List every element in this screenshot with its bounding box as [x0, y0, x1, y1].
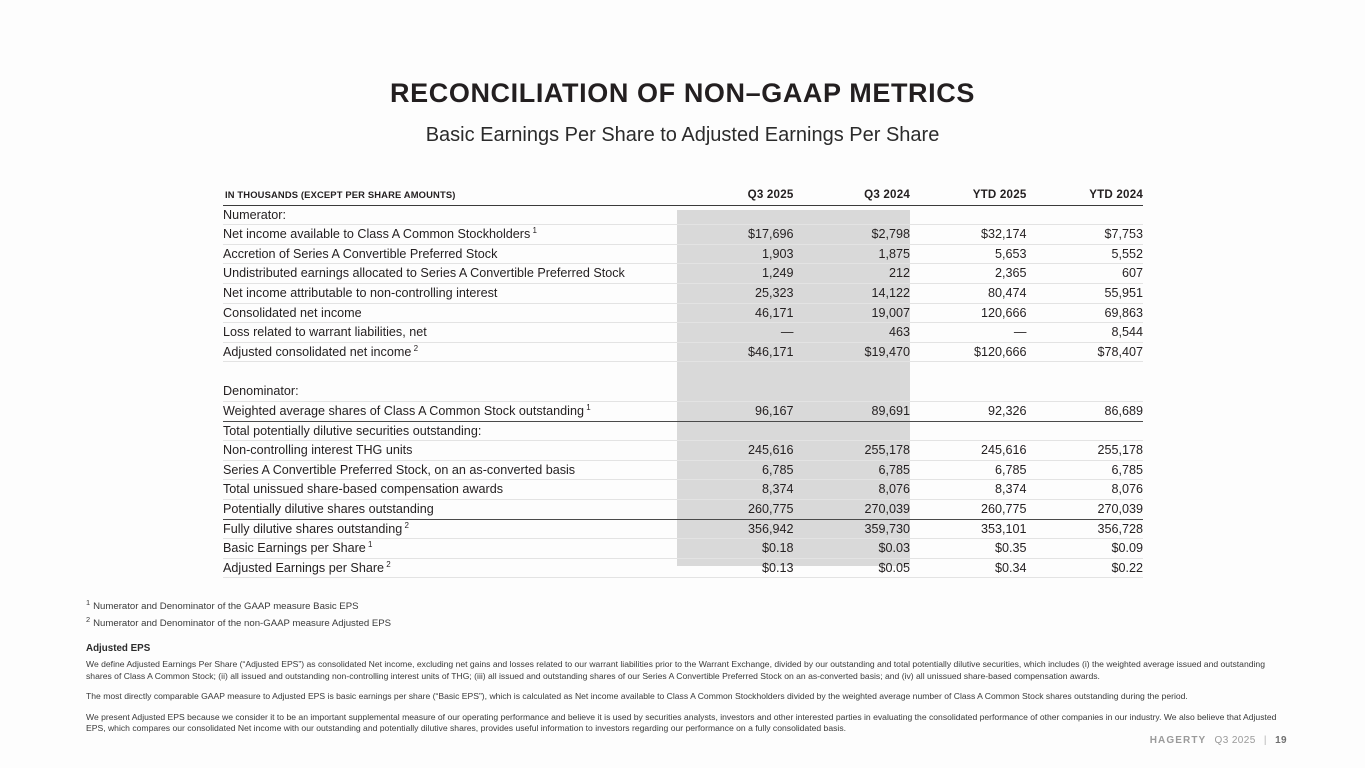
row-value-col2: 19,007: [794, 303, 911, 323]
row-label: Adjusted Earnings per Share 2: [223, 558, 677, 578]
row-label: Loss related to warrant liabilities, net: [223, 323, 677, 343]
row-value-col2: $0.03: [794, 539, 911, 559]
definition-paragraph: We define Adjusted Earnings Per Share (“…: [86, 659, 1278, 682]
footnote-marker: 1: [86, 598, 90, 607]
row-value-col4: 6,785: [1027, 460, 1144, 480]
row-value-col4: 270,039: [1027, 499, 1144, 519]
table-header-row: IN THOUSANDS (EXCEPT PER SHARE AMOUNTS) …: [223, 186, 1143, 205]
row-label: Accretion of Series A Convertible Prefer…: [223, 244, 677, 264]
row-label: Denominator:: [223, 382, 677, 401]
table-row: Basic Earnings per Share 1$0.18$0.03$0.3…: [223, 539, 1143, 559]
header-col-q3-2025: Q3 2025: [677, 186, 794, 205]
row-value-col1: 1,903: [677, 244, 794, 264]
footnote-marker: 1: [584, 403, 591, 412]
page-title: RECONCILIATION OF NON–GAAP METRICS: [0, 78, 1365, 109]
row-value-col1: $0.13: [677, 558, 794, 578]
row-value-col3: 353,101: [910, 519, 1027, 539]
footnote-marker: 2: [86, 615, 90, 624]
row-value-col1: $17,696: [677, 225, 794, 245]
row-value-col3: $120,666: [910, 342, 1027, 362]
row-value-col1: 8,374: [677, 480, 794, 500]
row-value-col2: 14,122: [794, 283, 911, 303]
table-row: Consolidated net income46,17119,007120,6…: [223, 303, 1143, 323]
row-value-col4: 607: [1027, 264, 1144, 284]
row-value-col4: 69,863: [1027, 303, 1144, 323]
row-value-col2: 359,730: [794, 519, 911, 539]
row-value-col3: [910, 421, 1027, 441]
row-value-col1: $0.18: [677, 539, 794, 559]
row-value-col2: 463: [794, 323, 911, 343]
row-label: Basic Earnings per Share 1: [223, 539, 677, 559]
brand-wordmark: HAGERTY: [1150, 735, 1207, 746]
row-value-col4: 356,728: [1027, 519, 1144, 539]
row-value-col2: [794, 205, 911, 225]
row-value-col3: $0.34: [910, 558, 1027, 578]
row-value-col3: 120,666: [910, 303, 1027, 323]
table-row: Adjusted consolidated net income 2$46,17…: [223, 342, 1143, 362]
footnotes: 1Numerator and Denominator of the GAAP m…: [86, 598, 1286, 632]
row-label: Weighted average shares of Class A Commo…: [223, 401, 677, 421]
row-value-col1: 1,249: [677, 264, 794, 284]
row-value-col3: [910, 382, 1027, 401]
row-value-col4: 255,178: [1027, 441, 1144, 461]
footnote-marker: 1: [530, 226, 537, 235]
table-row: Total unissued share-based compensation …: [223, 480, 1143, 500]
table-row: Net income attributable to non-controlli…: [223, 283, 1143, 303]
row-value-col4: [1027, 421, 1144, 441]
table-row: Non-controlling interest THG units245,61…: [223, 441, 1143, 461]
row-value-col4: $0.22: [1027, 558, 1144, 578]
footnote-marker: 2: [402, 520, 409, 529]
row-label: Undistributed earnings allocated to Seri…: [223, 264, 677, 284]
row-label: [223, 362, 677, 383]
row-value-col2: 255,178: [794, 441, 911, 461]
row-value-col3: 6,785: [910, 460, 1027, 480]
row-value-col1: [677, 421, 794, 441]
row-value-col3: [910, 205, 1027, 225]
row-value-col3: 5,653: [910, 244, 1027, 264]
slide-canvas: RECONCILIATION OF NON–GAAP METRICS Basic…: [0, 0, 1365, 768]
row-value-col4: [1027, 205, 1144, 225]
row-value-col4: $7,753: [1027, 225, 1144, 245]
footnote-item: 1Numerator and Denominator of the GAAP m…: [86, 598, 1286, 615]
row-value-col2: $0.05: [794, 558, 911, 578]
definition-paragraph: We present Adjusted EPS because we consi…: [86, 712, 1278, 735]
row-label: Net income available to Class A Common S…: [223, 225, 677, 245]
row-value-col1: 96,167: [677, 401, 794, 421]
adjusted-eps-heading: Adjusted EPS: [86, 643, 150, 654]
row-value-col1: —: [677, 323, 794, 343]
header-col-ytd-2025: YTD 2025: [910, 186, 1027, 205]
row-label: Potentially dilutive shares outstanding: [223, 499, 677, 519]
row-value-col1: 356,942: [677, 519, 794, 539]
row-value-col1: 46,171: [677, 303, 794, 323]
table-body: Numerator:Net income available to Class …: [223, 205, 1143, 578]
row-value-col4: $0.09: [1027, 539, 1144, 559]
page-subtitle: Basic Earnings Per Share to Adjusted Ear…: [0, 124, 1365, 147]
table-row: Adjusted Earnings per Share 2$0.13$0.05$…: [223, 558, 1143, 578]
footnote-marker: 2: [411, 344, 418, 353]
row-value-col2: $19,470: [794, 342, 911, 362]
footnote-marker: 2: [384, 560, 391, 569]
table-row: Numerator:: [223, 205, 1143, 225]
table-row: Weighted average shares of Class A Commo…: [223, 401, 1143, 421]
row-value-col4: 8,544: [1027, 323, 1144, 343]
reconciliation-table-wrapper: IN THOUSANDS (EXCEPT PER SHARE AMOUNTS) …: [223, 186, 1143, 578]
row-value-col2: [794, 362, 911, 383]
row-value-col3: 8,374: [910, 480, 1027, 500]
row-value-col3: 260,775: [910, 499, 1027, 519]
row-value-col3: 2,365: [910, 264, 1027, 284]
row-label: Numerator:: [223, 205, 677, 225]
footnote-marker: 1: [366, 540, 373, 549]
table-row: Total potentially dilutive securities ou…: [223, 421, 1143, 441]
row-value-col3: —: [910, 323, 1027, 343]
row-value-col2: 6,785: [794, 460, 911, 480]
page-number: 19: [1275, 735, 1287, 746]
row-label: Non-controlling interest THG units: [223, 441, 677, 461]
row-value-col3: $0.35: [910, 539, 1027, 559]
table-row: Undistributed earnings allocated to Seri…: [223, 264, 1143, 284]
row-value-col2: $2,798: [794, 225, 911, 245]
footer-separator: |: [1264, 735, 1267, 746]
row-value-col1: 6,785: [677, 460, 794, 480]
row-label: Consolidated net income: [223, 303, 677, 323]
row-value-col1: 25,323: [677, 283, 794, 303]
header-col-q3-2024: Q3 2024: [794, 186, 911, 205]
row-value-col4: 5,552: [1027, 244, 1144, 264]
table-row: Loss related to warrant liabilities, net…: [223, 323, 1143, 343]
row-label: Net income attributable to non-controlli…: [223, 283, 677, 303]
row-value-col1: [677, 382, 794, 401]
row-value-col4: $78,407: [1027, 342, 1144, 362]
table-row: [223, 362, 1143, 383]
row-label: Total unissued share-based compensation …: [223, 480, 677, 500]
row-value-col1: [677, 362, 794, 383]
row-value-col4: [1027, 362, 1144, 383]
footer-quarter: Q3 2025: [1215, 735, 1256, 746]
row-value-col2: 89,691: [794, 401, 911, 421]
row-value-col2: [794, 421, 911, 441]
row-value-col3: [910, 362, 1027, 383]
row-value-col4: [1027, 382, 1144, 401]
table-row: Denominator:: [223, 382, 1143, 401]
table-row: Potentially dilutive shares outstanding2…: [223, 499, 1143, 519]
table-row: Accretion of Series A Convertible Prefer…: [223, 244, 1143, 264]
adjusted-eps-definition: We define Adjusted Earnings Per Share (“…: [86, 659, 1278, 744]
row-value-col4: 86,689: [1027, 401, 1144, 421]
row-value-col3: $32,174: [910, 225, 1027, 245]
row-value-col1: $46,171: [677, 342, 794, 362]
row-label: Series A Convertible Preferred Stock, on…: [223, 460, 677, 480]
slide-footer: HAGERTY Q3 2025 | 19: [1150, 735, 1287, 746]
table-row: Net income available to Class A Common S…: [223, 225, 1143, 245]
header-units-label: IN THOUSANDS (EXCEPT PER SHARE AMOUNTS): [223, 186, 677, 205]
row-label: Fully dilutive shares outstanding 2: [223, 519, 677, 539]
table-row: Series A Convertible Preferred Stock, on…: [223, 460, 1143, 480]
row-label: Total potentially dilutive securities ou…: [223, 421, 677, 441]
row-value-col2: 270,039: [794, 499, 911, 519]
table-row: Fully dilutive shares outstanding 2356,9…: [223, 519, 1143, 539]
row-value-col4: 8,076: [1027, 480, 1144, 500]
row-value-col3: 245,616: [910, 441, 1027, 461]
row-value-col3: 80,474: [910, 283, 1027, 303]
row-value-col2: 1,875: [794, 244, 911, 264]
definition-paragraph: The most directly comparable GAAP measur…: [86, 691, 1278, 703]
footnote-item: 2Numerator and Denominator of the non-GA…: [86, 615, 1286, 632]
row-value-col1: 245,616: [677, 441, 794, 461]
header-col-ytd-2024: YTD 2024: [1027, 186, 1144, 205]
row-label: Adjusted consolidated net income 2: [223, 342, 677, 362]
row-value-col2: [794, 382, 911, 401]
row-value-col2: 8,076: [794, 480, 911, 500]
row-value-col4: 55,951: [1027, 283, 1144, 303]
reconciliation-table: IN THOUSANDS (EXCEPT PER SHARE AMOUNTS) …: [223, 186, 1143, 578]
row-value-col1: 260,775: [677, 499, 794, 519]
row-value-col2: 212: [794, 264, 911, 284]
row-value-col3: 92,326: [910, 401, 1027, 421]
row-value-col1: [677, 205, 794, 225]
